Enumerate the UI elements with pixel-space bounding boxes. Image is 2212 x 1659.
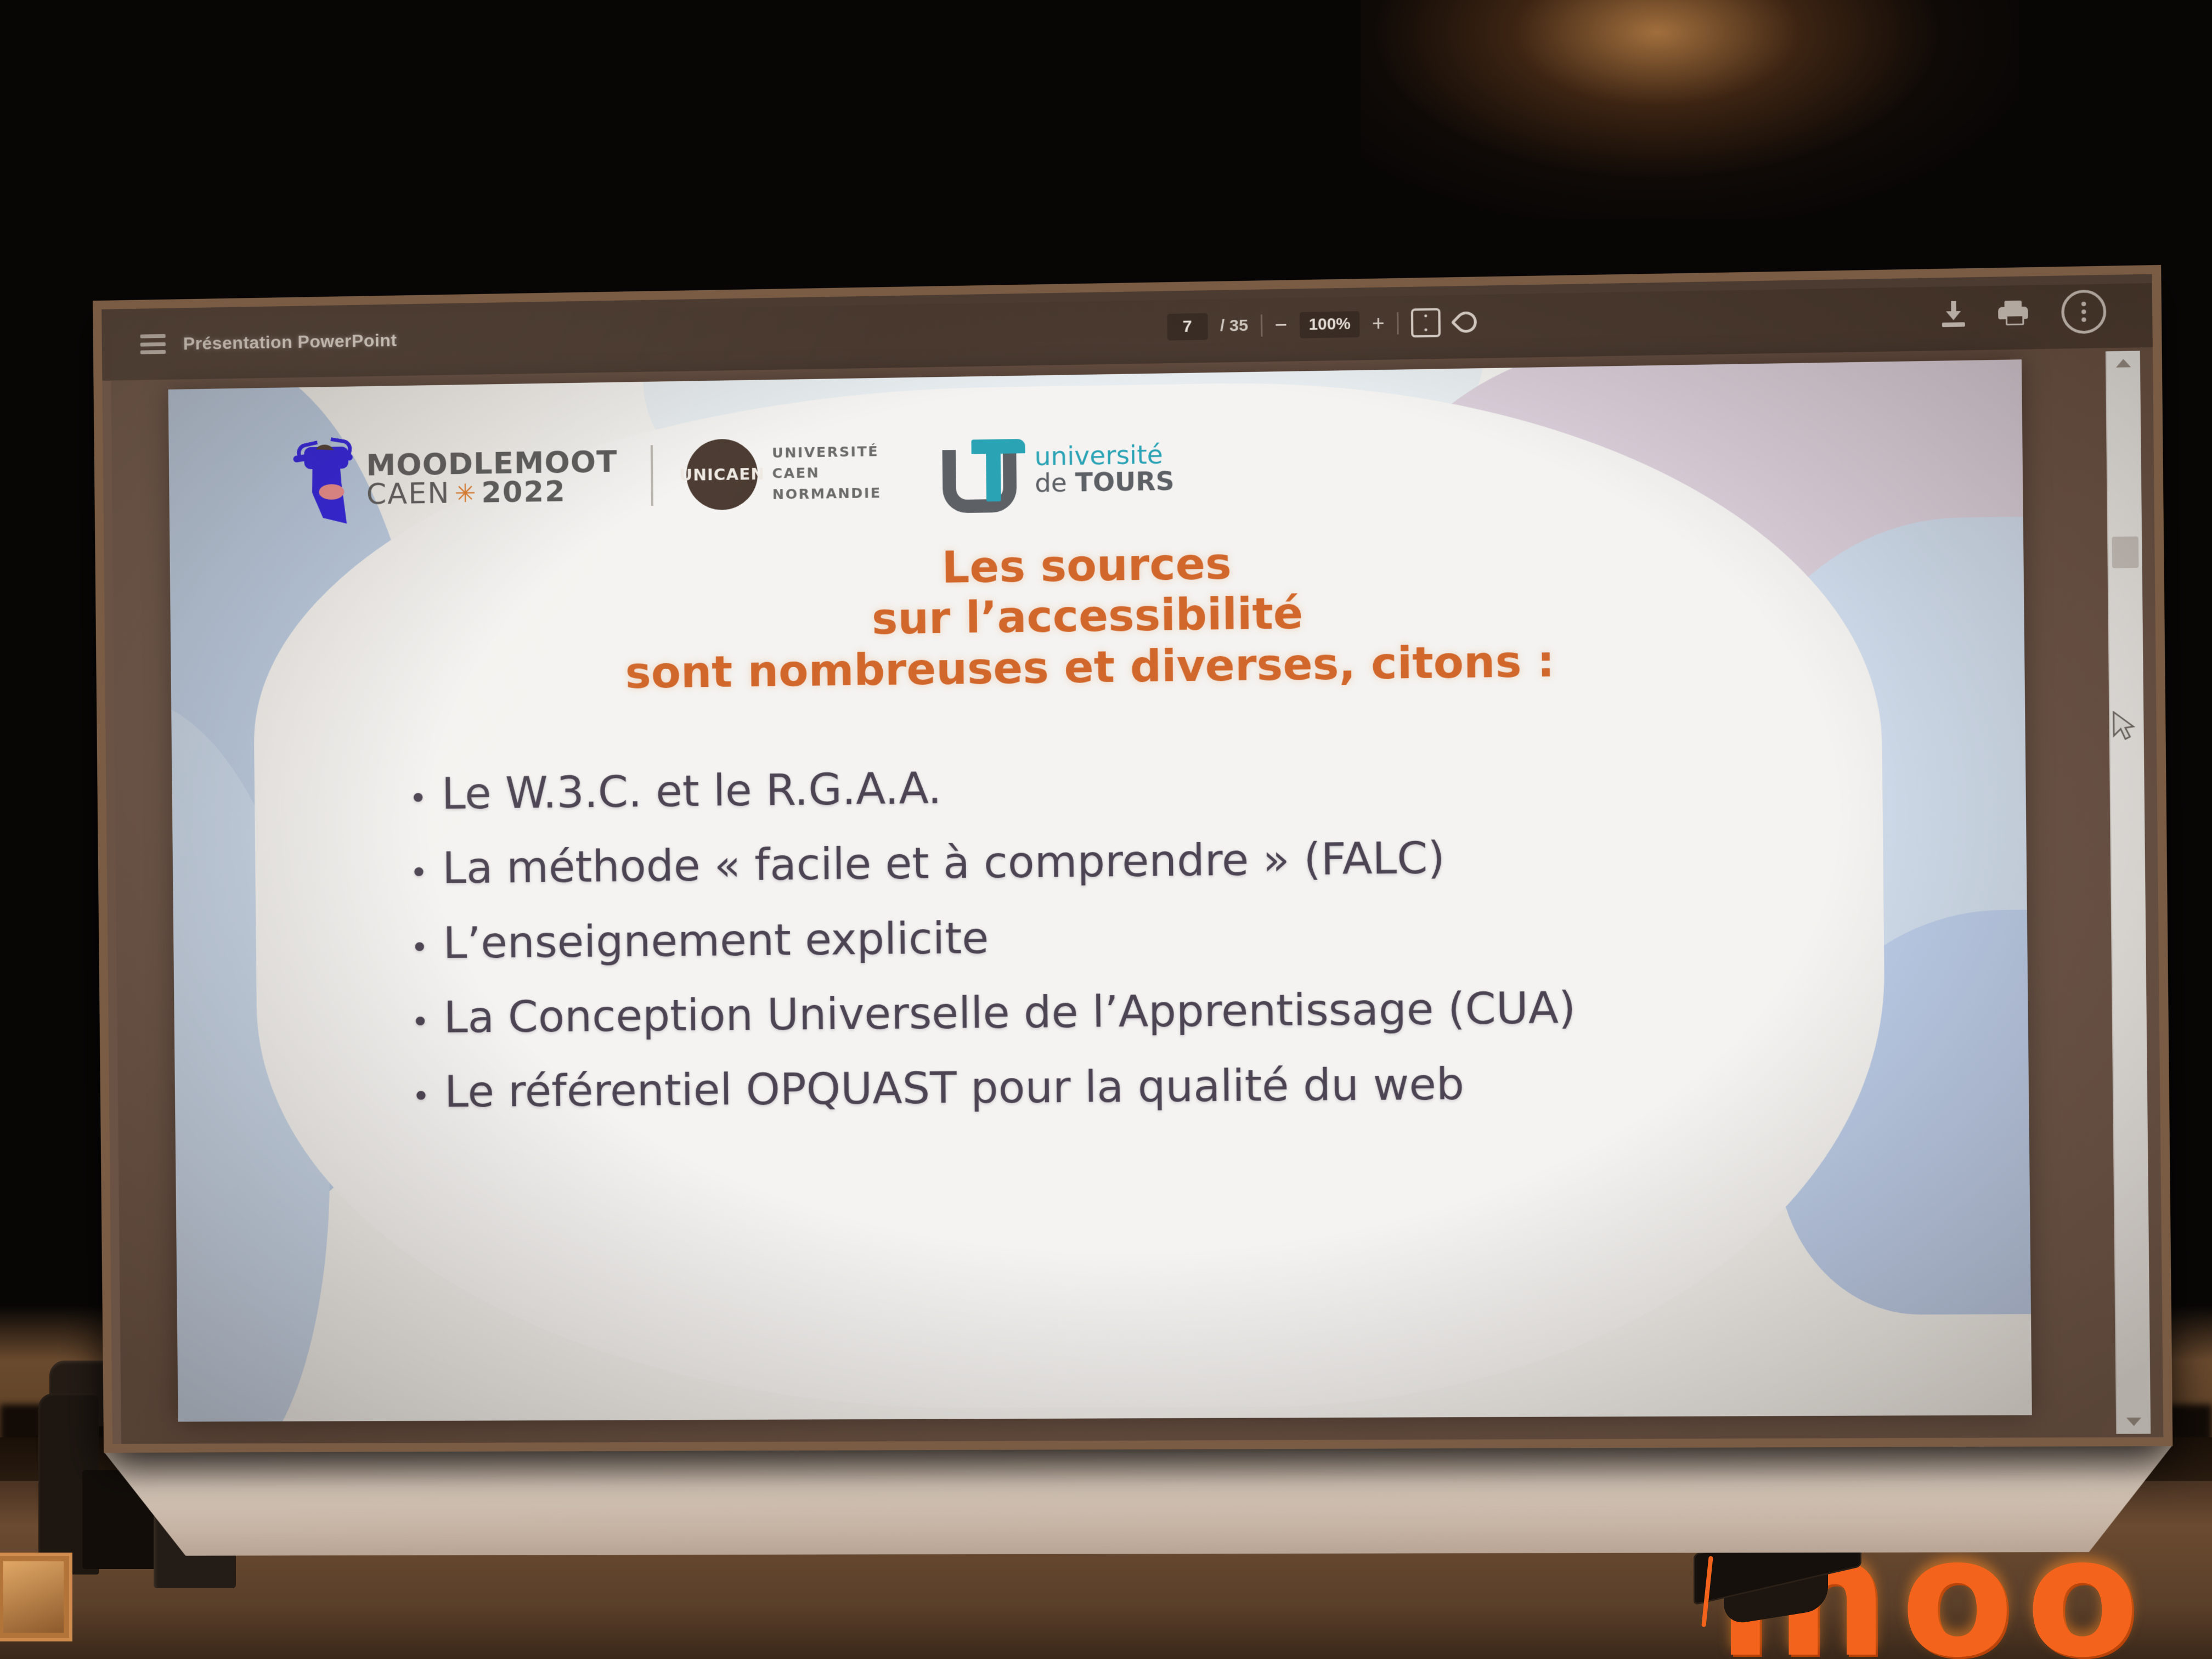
toolbar-center-group: 7 / 35 − 100% + <box>888 303 1762 346</box>
toolbar-separator <box>1397 312 1398 335</box>
moodlemoot-year: 2022 <box>481 477 566 507</box>
tours-line2: de TOURS <box>1035 466 1175 498</box>
moodlemoot-line2: CAEN ✳ 2022 <box>366 477 618 509</box>
bullet-marker: • <box>412 1082 431 1113</box>
blue-cow-mascot-icon <box>295 437 358 524</box>
moodlemoot-city: CAEN <box>366 479 450 509</box>
unicaen-wordmark: UNIVERSITÉ CAEN NORMANDIE <box>772 441 882 505</box>
slide-logo-row: MOODLEMOOT CAEN ✳ 2022 UNICAEN <box>295 409 1697 530</box>
bullet-item: • La Conception Universelle de l’Apprent… <box>411 981 1954 1042</box>
unicaen-line2: CAEN <box>772 465 820 482</box>
universite-tours-logo: université de TOURS <box>943 437 1175 503</box>
bullet-text: La méthode « facile et à comprendre » (F… <box>442 834 1446 893</box>
projection-screen: Présentation PowerPoint 7 / 35 − 100% + <box>93 265 2180 1557</box>
scroll-up-arrow-icon[interactable] <box>2116 359 2131 368</box>
scrollbar-thumb[interactable] <box>2112 537 2139 568</box>
unicaen-line1: UNIVERSITÉ <box>772 443 879 461</box>
auditorium-room: m o o Présentation PowerPoint 7 / 35 <box>0 0 2212 1659</box>
bullet-item: • L’enseignement explicite <box>410 905 1953 968</box>
download-icon[interactable] <box>1942 301 1965 327</box>
unicaen-line3: NORMANDIE <box>772 484 882 502</box>
bullet-marker: • <box>410 858 428 889</box>
rotate-icon[interactable] <box>1453 309 1480 335</box>
tours-city: TOURS <box>1075 466 1175 497</box>
presentation-slide: MOODLEMOOT CAEN ✳ 2022 UNICAEN <box>168 359 2032 1421</box>
moodlemoot-wordmark: MOODLEMOOT CAEN ✳ 2022 <box>366 447 618 509</box>
scroll-down-arrow-icon[interactable] <box>2126 1418 2141 1426</box>
tours-wordmark: université de TOURS <box>1034 441 1174 497</box>
toolbar-right-group <box>1762 289 2153 339</box>
zoom-out-button[interactable]: − <box>1274 314 1287 336</box>
moodlemoot-star-icon: ✳ <box>454 481 477 506</box>
ut-monogram-icon <box>943 439 1027 503</box>
document-title: Présentation PowerPoint <box>183 330 397 354</box>
mouse-cursor-icon <box>2111 710 2137 742</box>
slide-title: Les sources sur l’accessibilité sont nom… <box>170 528 2024 704</box>
bullet-text: La Conception Universelle de l’Apprentis… <box>443 984 1576 1042</box>
logo-divider <box>651 445 653 506</box>
moodlemoot-logo: MOODLEMOOT CAEN ✳ 2022 <box>295 432 618 524</box>
bullet-marker: • <box>409 783 427 815</box>
viewer-canvas-area: MOODLEMOOT CAEN ✳ 2022 UNICAEN <box>102 347 2163 1444</box>
slide-bullet-list: • Le W.3.C. et le R.G.A.A. • La méthode … <box>409 753 1955 1144</box>
unicaen-badge-icon: UNICAEN <box>686 438 758 510</box>
bullet-text: Le référentiel OPQUAST pour la qualité d… <box>444 1061 1465 1117</box>
fit-page-icon[interactable] <box>1411 308 1441 338</box>
zoom-in-button[interactable]: + <box>1372 313 1385 334</box>
screen-skirt <box>104 1445 2174 1556</box>
print-icon[interactable] <box>1998 301 2028 326</box>
toolbar-left-group: Présentation PowerPoint <box>102 321 888 355</box>
bullet-text: Le W.3.C. et le R.G.A.A. <box>442 765 942 819</box>
bullet-text: L’enseignement explicite <box>443 915 989 968</box>
page-total-label: / 35 <box>1220 317 1249 336</box>
zoom-level-display[interactable]: 100% <box>1300 311 1360 338</box>
toolbar-separator <box>1261 314 1262 337</box>
unicaen-logo: UNICAEN UNIVERSITÉ CAEN NORMANDIE <box>686 437 882 510</box>
screen-surface: Présentation PowerPoint 7 / 35 − 100% + <box>101 274 2163 1444</box>
hamburger-menu-icon[interactable] <box>140 334 166 354</box>
tours-line2-prefix: de <box>1035 467 1075 498</box>
more-options-kebab-icon[interactable] <box>2061 290 2107 334</box>
bullet-marker: • <box>411 1007 430 1038</box>
page-number-input[interactable]: 7 <box>1167 313 1207 341</box>
framed-sign-inner <box>3 1561 64 1633</box>
bullet-item: • Le référentiel OPQUAST pour la qualité… <box>411 1057 1954 1118</box>
bullet-item: • La méthode « facile et à comprendre » … <box>409 830 1952 894</box>
bullet-marker: • <box>410 933 429 964</box>
framed-sign <box>0 1553 72 1641</box>
